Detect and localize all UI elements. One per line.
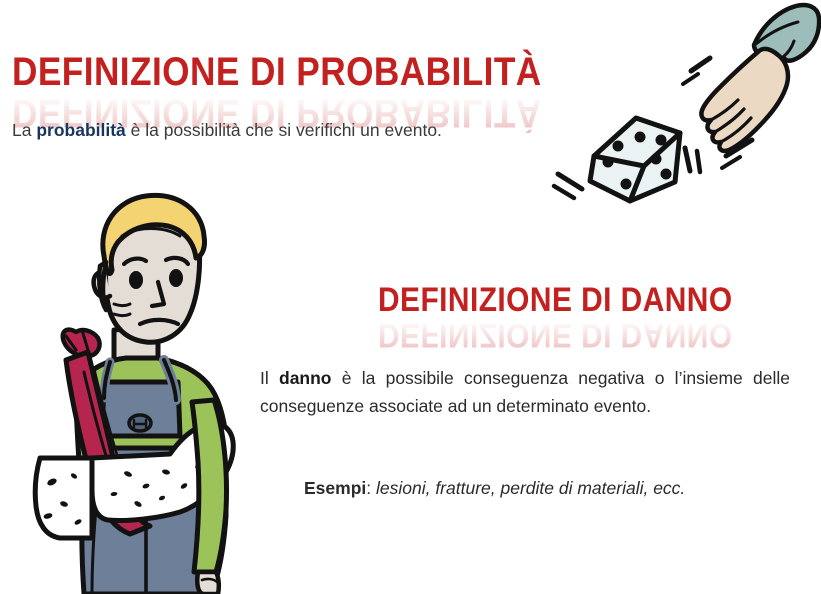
die-pip bbox=[603, 157, 614, 168]
damage-paragraph-after: è la possibile conseguenza negativa o l’… bbox=[260, 368, 790, 416]
examples-text: lesioni, fratture, perdite di materiali,… bbox=[376, 478, 685, 498]
motion-line-b bbox=[683, 74, 698, 84]
die-pip bbox=[661, 169, 672, 180]
heading-damage-text: DEFINIZIONE DI DANNO bbox=[378, 283, 733, 317]
probability-sentence: La probabilità è la possibilità che si v… bbox=[12, 119, 442, 143]
boy-with-arm-cast-illustration bbox=[18, 186, 286, 594]
right-hand bbox=[197, 572, 219, 594]
eye-right bbox=[169, 269, 183, 287]
motion-line-a bbox=[691, 58, 710, 71]
hand-shape bbox=[701, 49, 788, 151]
motion-line-h bbox=[697, 151, 700, 172]
heading-damage: DEFINIZIONE DI DANNO DEFINIZIONE DI DANN… bbox=[378, 283, 781, 352]
cheek-line-1 bbox=[114, 304, 130, 306]
heading-probability-text: DEFINIZIONE DI PROBABILITÀ bbox=[12, 52, 542, 92]
motion-line-f bbox=[554, 186, 574, 198]
die-pip bbox=[635, 132, 646, 143]
examples-line: Esempi: lesioni, fratture, perdite di ma… bbox=[304, 478, 685, 499]
hair-sideburn bbox=[99, 262, 106, 310]
slide-canvas: DEFINIZIONE DI PROBABILITÀ DEFINIZIONE D… bbox=[0, 0, 821, 594]
injured-boy-svg bbox=[18, 186, 286, 594]
motion-line-d bbox=[722, 157, 740, 168]
die-shape bbox=[590, 118, 680, 201]
probability-sentence-after: è la possibilità che si verifichi un eve… bbox=[126, 120, 442, 140]
probability-keyword: probabilità bbox=[36, 120, 125, 140]
die-pip bbox=[613, 141, 624, 152]
motion-line-e bbox=[558, 174, 582, 189]
die-pip bbox=[621, 179, 632, 190]
die-pip bbox=[656, 135, 667, 146]
dice-throw-svg bbox=[540, 0, 821, 211]
eye-left bbox=[129, 271, 143, 289]
examples-label: Esempi bbox=[304, 478, 366, 498]
probability-sentence-before: La bbox=[12, 120, 36, 140]
right-arm-sleeve bbox=[192, 400, 227, 572]
die-pip bbox=[651, 154, 662, 165]
heading-damage-reflection: DEFINIZIONE DI DANNO bbox=[378, 318, 733, 352]
cast-upper-arm bbox=[35, 458, 92, 538]
hand-throwing-die-illustration bbox=[540, 0, 821, 216]
damage-paragraph: Il danno è la possibile conseguenza nega… bbox=[260, 364, 790, 421]
motion-line-g bbox=[685, 148, 690, 171]
examples-separator: : bbox=[366, 478, 376, 498]
damage-keyword: danno bbox=[279, 368, 332, 388]
cheek-line-2 bbox=[114, 314, 130, 316]
